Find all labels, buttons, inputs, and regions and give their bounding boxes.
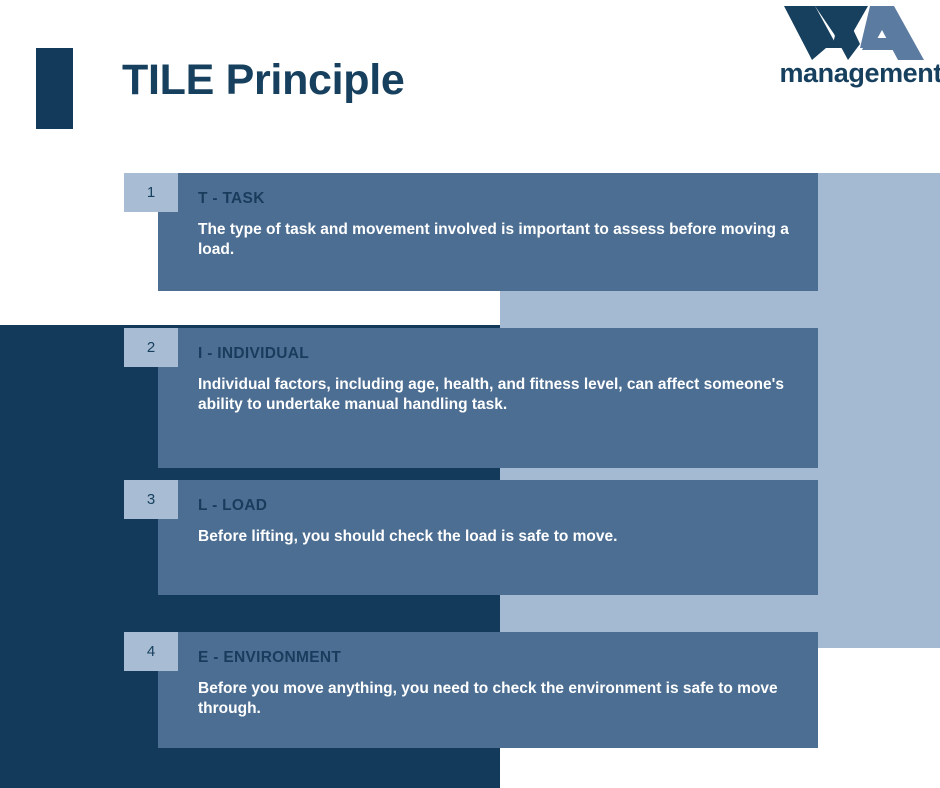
item-description-2: Individual factors, including age, healt… xyxy=(198,375,798,416)
item-number-badge-4: 4 xyxy=(124,632,178,671)
title-accent-bar xyxy=(36,48,73,129)
item-description-3: Before lifting, you should check the loa… xyxy=(198,527,798,547)
item-number-badge-1: 1 xyxy=(124,173,178,212)
wa-logo-icon xyxy=(782,4,940,60)
slide-canvas: TILE Principle management 1 T - TASK The… xyxy=(0,0,940,788)
item-number-badge-2: 2 xyxy=(124,328,178,367)
tile-items-list: 1 T - TASK The type of task and movement… xyxy=(0,0,940,788)
item-title-4: E - ENVIRONMENT xyxy=(198,649,341,667)
item-title-2: I - INDIVIDUAL xyxy=(198,345,309,363)
page-title: TILE Principle xyxy=(122,56,405,105)
wa-management-logo: management xyxy=(744,4,940,89)
item-title-3: L - LOAD xyxy=(198,497,267,515)
logo-wordmark: management xyxy=(744,58,940,89)
item-title-1: T - TASK xyxy=(198,190,265,208)
item-number-badge-3: 3 xyxy=(124,480,178,519)
item-description-1: The type of task and movement involved i… xyxy=(198,220,798,261)
item-description-4: Before you move anything, you need to ch… xyxy=(198,679,798,720)
